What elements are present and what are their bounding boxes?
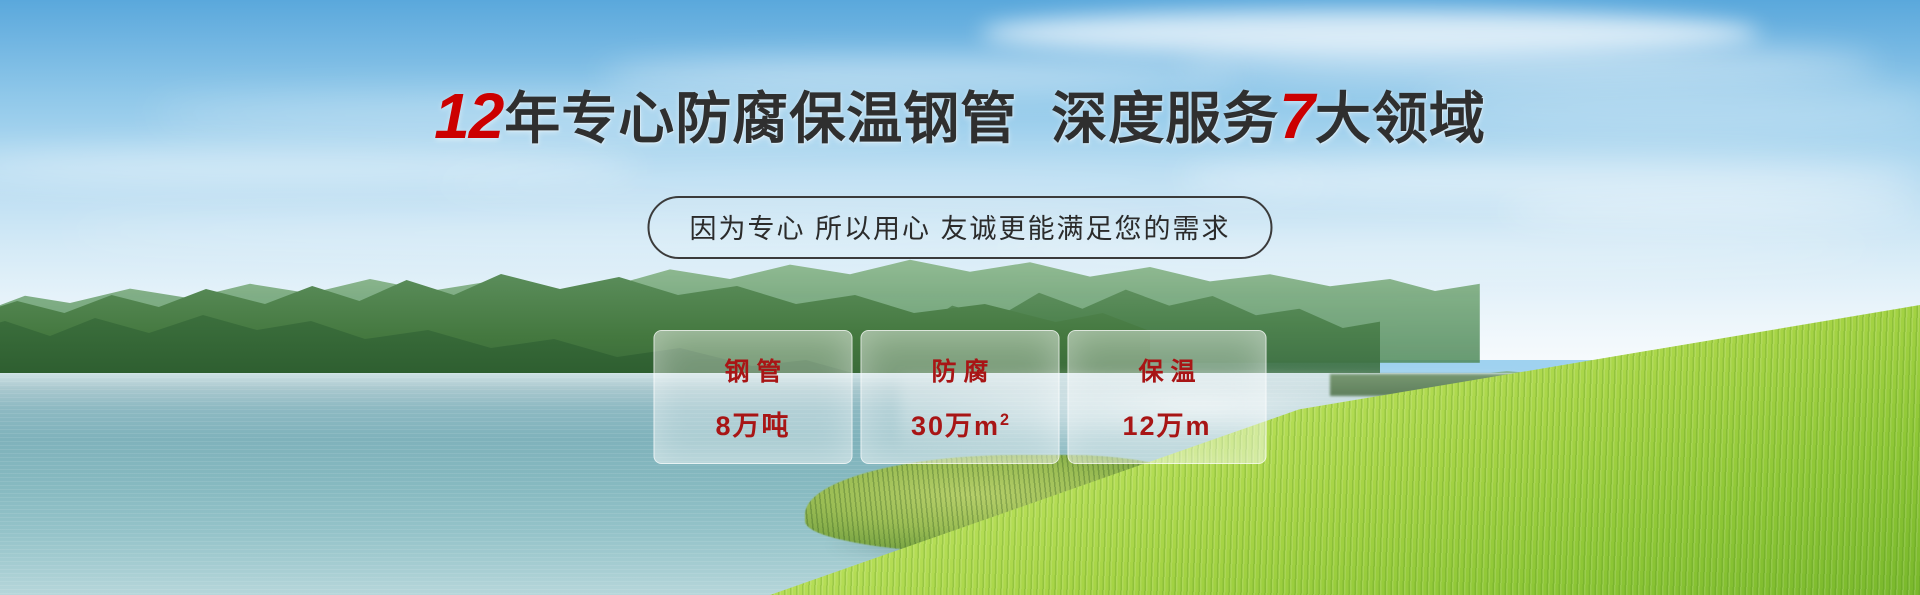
- stat-card-value: 30万m2: [911, 404, 1009, 443]
- stat-card-value: 12万m: [1122, 404, 1211, 443]
- stat-card-value: 8万吨: [715, 404, 790, 443]
- stat-value-base: 12万m: [1122, 411, 1211, 441]
- headline-text-primary: 年专心防腐保温钢管: [504, 87, 1017, 150]
- stat-card-label: 钢管: [717, 352, 788, 388]
- headline-text-tertiary: 大领域: [1315, 87, 1486, 150]
- banner-headline: 12年专心防腐保温钢管深度服务7大领域: [0, 82, 1920, 151]
- banner-subtitle-text: 因为专心 所以用心 友诚更能满足您的需求: [689, 214, 1230, 244]
- banner-subtitle-pill: 因为专心 所以用心 友诚更能满足您的需求: [647, 196, 1272, 259]
- stat-card-group: 钢管 8万吨 防腐 30万m2 保温 12万m: [654, 330, 1267, 464]
- stat-card-steel-pipe[interactable]: 钢管 8万吨: [654, 330, 853, 464]
- stat-card-label: 保温: [1131, 352, 1202, 388]
- headline-text-secondary: 深度服务: [1051, 87, 1279, 150]
- stat-value-base: 30万m: [911, 411, 1000, 441]
- stat-value-base: 8万吨: [715, 411, 790, 441]
- stat-card-anticorrosion[interactable]: 防腐 30万m2: [861, 330, 1060, 464]
- headline-number-fields: 7: [1279, 80, 1314, 152]
- hero-banner: 12年专心防腐保温钢管深度服务7大领域 因为专心 所以用心 友诚更能满足您的需求…: [0, 0, 1920, 595]
- stat-value-superscript: 2: [1000, 411, 1009, 429]
- stat-card-insulation[interactable]: 保温 12万m: [1068, 330, 1267, 464]
- headline-number-years: 12: [434, 80, 503, 152]
- stat-card-label: 防腐: [924, 352, 995, 388]
